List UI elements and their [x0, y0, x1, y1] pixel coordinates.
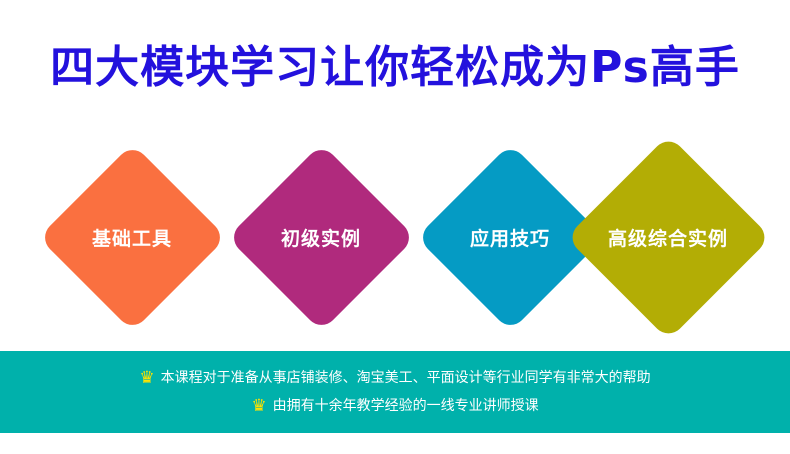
module-diamond-row: 基础工具 初级实例 应用技巧 高级综合实例	[38, 143, 762, 331]
banner-line-2: ♛ 由拥有十余年教学经验的一线专业讲师授课	[251, 396, 538, 416]
slide-canvas: 四大模块学习让你轻松成为Ps高手 基础工具 初级实例 应用技巧 高级综合实例 ♛…	[0, 0, 790, 454]
module-card-beginner-examples[interactable]: 初级实例	[227, 143, 415, 331]
page-title: 四大模块学习让你轻松成为Ps高手	[0, 40, 790, 96]
banner-text: 由拥有十余年教学经验的一线专业讲师授课	[273, 396, 539, 416]
banner-text: 本课程对于准备从事店铺装修、淘宝美工、平面设计等行业同学有非常大的帮助	[161, 368, 651, 388]
crown-icon: ♛	[139, 370, 154, 387]
banner-line-1: ♛ 本课程对于准备从事店铺装修、淘宝美工、平面设计等行业同学有非常大的帮助	[139, 368, 650, 388]
diamond-shape	[38, 143, 226, 331]
diamond-shape	[227, 143, 415, 331]
module-card-advanced-examples[interactable]: 高级综合实例	[574, 143, 762, 331]
module-card-basic-tools[interactable]: 基础工具	[38, 143, 226, 331]
footer-banner: ♛ 本课程对于准备从事店铺装修、淘宝美工、平面设计等行业同学有非常大的帮助 ♛ …	[0, 351, 790, 433]
crown-icon: ♛	[251, 398, 266, 415]
diamond-shape	[565, 134, 770, 339]
